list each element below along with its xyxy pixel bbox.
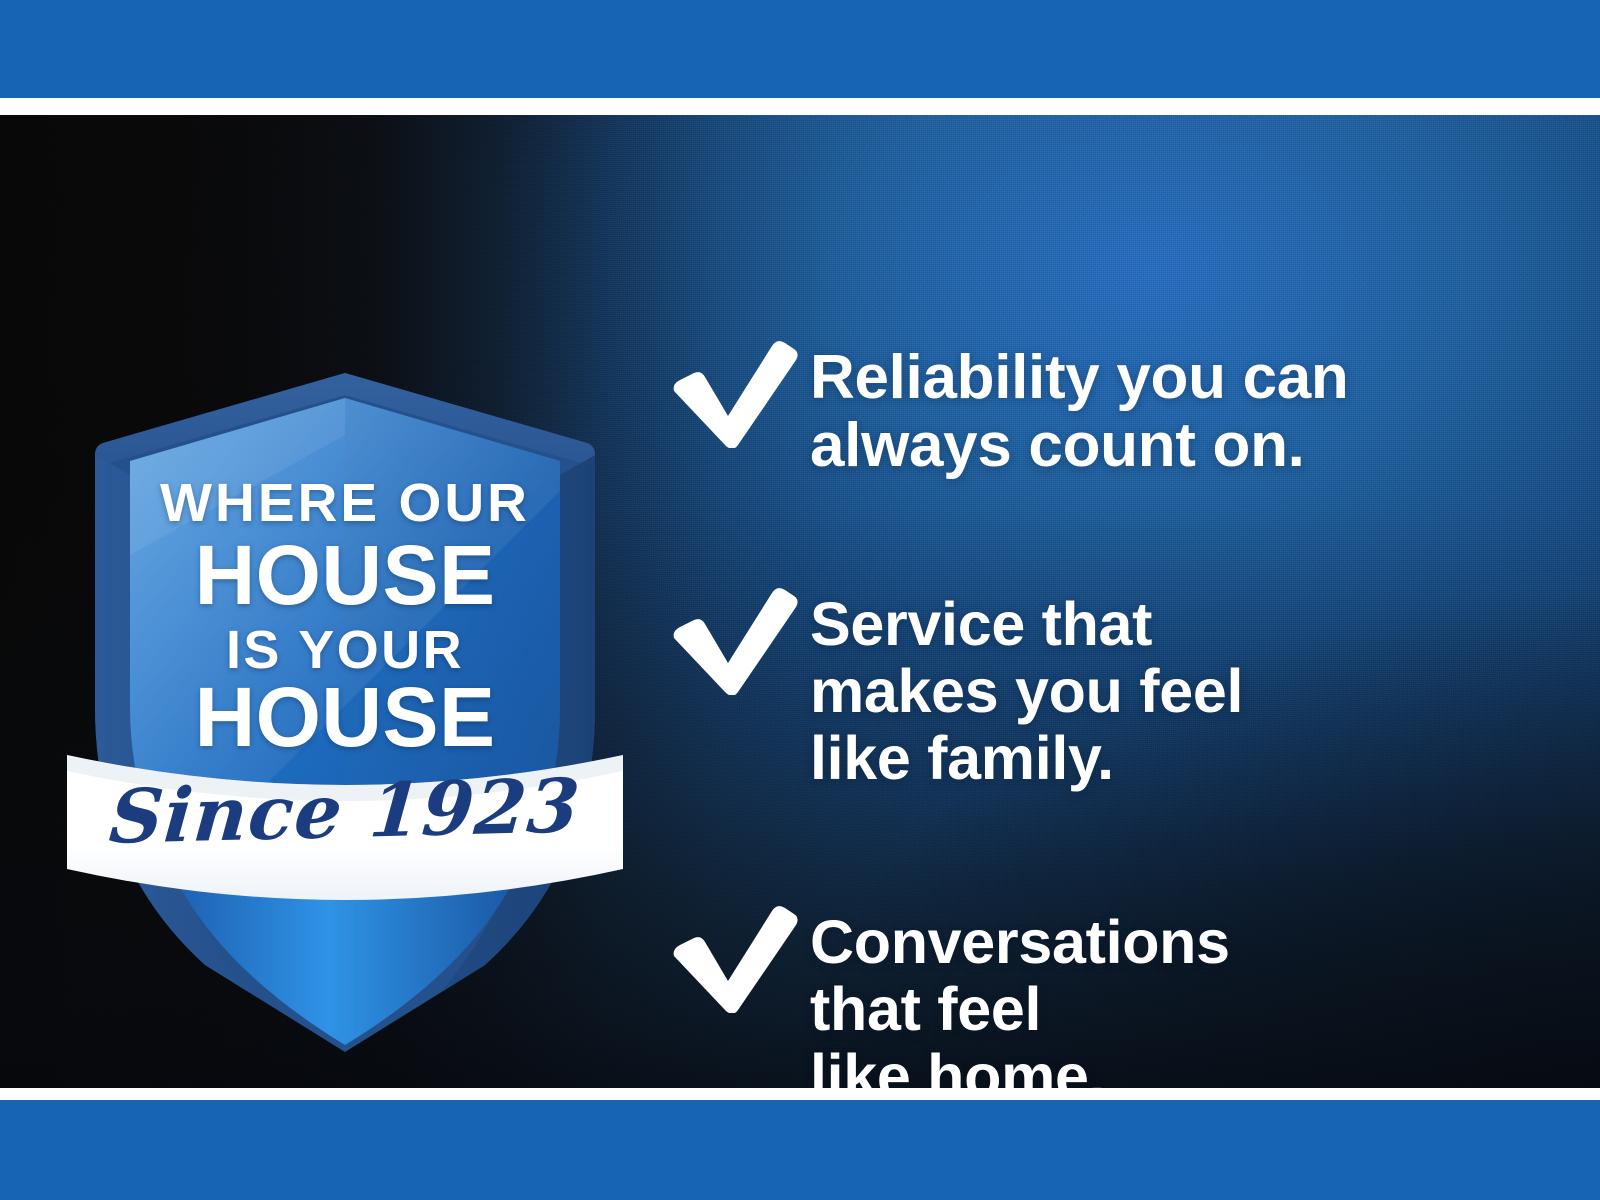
benefit-text: Reliability you can always count on.	[810, 330, 1349, 480]
benefit-text: Conversations that feel like home.	[810, 895, 1230, 1088]
shield-badge: WHERE OUR HOUSE IS YOUR HOUSE Since 1923	[55, 255, 635, 1075]
check-icon	[660, 577, 810, 697]
benefit-item: Service that makes you feel like family.	[660, 577, 1560, 792]
badge-line-3: IS YOUR	[55, 623, 635, 677]
check-icon	[660, 330, 810, 450]
badge-line-4: HOUSE	[55, 675, 635, 759]
benefit-item: Reliability you can always count on.	[660, 330, 1560, 480]
benefit-text: Service that makes you feel like family.	[810, 577, 1243, 792]
top-brand-bar	[0, 0, 1600, 98]
promo-poster: WHERE OUR HOUSE IS YOUR HOUSE Since 1923…	[0, 0, 1600, 1200]
benefits-list: Reliability you can always count on. Ser…	[660, 230, 1560, 1088]
benefit-item: Conversations that feel like home.	[660, 895, 1560, 1088]
badge-line-2: HOUSE	[55, 533, 635, 617]
badge-line-1: WHERE OUR	[49, 476, 641, 530]
bottom-brand-bar	[0, 1100, 1600, 1200]
poster-stage: WHERE OUR HOUSE IS YOUR HOUSE Since 1923…	[0, 115, 1600, 1088]
badge-since-banner-text: Since 1923	[52, 768, 638, 856]
check-icon	[660, 895, 810, 1015]
